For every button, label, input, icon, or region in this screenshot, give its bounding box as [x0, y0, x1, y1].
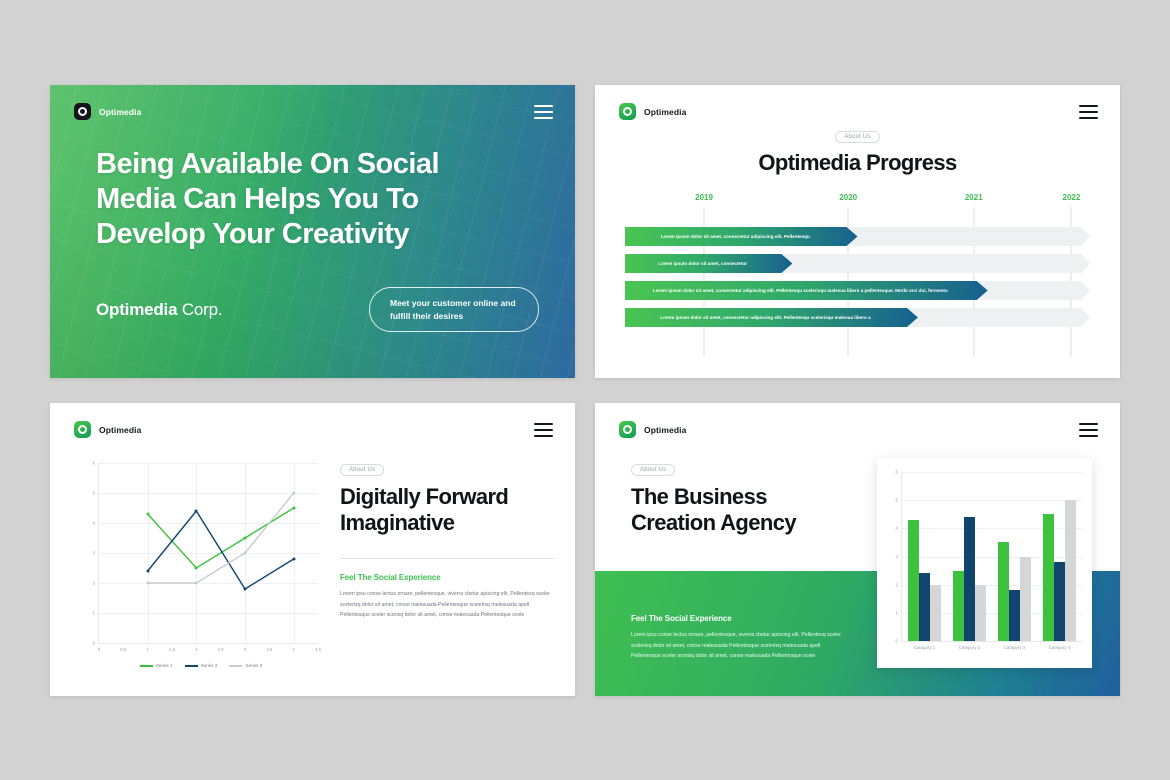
data-point: [195, 510, 198, 513]
brand-name: Optimedia: [99, 425, 141, 435]
hamburger-menu-icon[interactable]: [534, 105, 553, 119]
line-chart: 012345600.511.522.533.544.5Series 1Serie…: [76, 455, 326, 670]
bar: [908, 520, 919, 641]
timeline-fill: Lorem ipsum dolor sit amet, consectetur: [625, 254, 792, 273]
brand-name: Optimedia: [644, 107, 686, 117]
timeline-year-label: 2021: [965, 193, 983, 202]
y-axis-tick: 3: [93, 551, 95, 556]
data-point: [195, 582, 198, 585]
y-axis-tick: 3: [896, 554, 898, 559]
data-point: [195, 567, 198, 570]
legend-swatch-icon: [229, 665, 242, 667]
legend-swatch-icon: [140, 665, 153, 667]
bar-group: [992, 472, 1037, 641]
bar: [1020, 557, 1031, 642]
y-axis-tick: 4: [93, 521, 95, 526]
x-axis-tick: 3.5: [266, 647, 272, 652]
page-title: The Business Creation Agency: [631, 484, 846, 536]
plot-area: 012345600.511.522.533.544.5: [98, 463, 318, 644]
slide3-text-column: About Us Digitally Forward Imaginative F…: [340, 458, 555, 621]
data-point: [243, 537, 246, 540]
hamburger-menu-icon[interactable]: [534, 423, 553, 437]
hamburger-menu-icon[interactable]: [1079, 105, 1098, 119]
timeline-row-label: Lorem ipsum dolor sit amet, consectetur …: [625, 315, 918, 320]
corp-name: Optimedia Corp.: [96, 300, 222, 320]
x-axis-tick: 4.5: [315, 647, 321, 652]
timeline-fill: Lorem ipsum dolor sit amet, consectetur …: [625, 227, 858, 246]
bar-group: [947, 472, 992, 641]
legend-item[interactable]: Series 1: [140, 663, 173, 668]
slide-hero: Optimedia Being Available On Social Medi…: [50, 85, 575, 378]
x-axis-category-label: Category 4: [1049, 645, 1070, 650]
legend-item[interactable]: Series 3: [229, 663, 262, 668]
timeline-row-label: Lorem ipsum dolor sit amet, consectetur …: [625, 288, 988, 293]
timeline-year-label: 2020: [839, 193, 857, 202]
bar: [1065, 500, 1076, 641]
bar: [1043, 514, 1054, 641]
hero-footer: Optimedia Corp. Meet your customer onlin…: [96, 287, 539, 332]
series-lines: [99, 463, 318, 643]
bar: [930, 585, 941, 641]
brand-name: Optimedia: [99, 107, 141, 117]
timeline-fill: Lorem ipsum dolor sit amet, consectetur …: [625, 308, 918, 327]
legend-label: Series 2: [201, 663, 218, 668]
section-badge: About Us: [340, 464, 384, 476]
data-point: [243, 588, 246, 591]
hamburger-menu-icon[interactable]: [1079, 423, 1098, 437]
x-axis-tick: 1: [146, 647, 148, 652]
plot-area: 0123456Category 1Category 2Category 3Cat…: [901, 472, 1082, 642]
section-badge: About Us: [835, 131, 879, 143]
brand-logo[interactable]: Optimedia: [74, 421, 141, 438]
timeline-fill: Lorem ipsum dolor sit amet, consectetur …: [625, 281, 988, 300]
timeline-rows: Lorem ipsum dolor sit amet, consectetur …: [625, 223, 1090, 327]
x-axis-tick: 0: [98, 647, 100, 652]
slide-progress: Optimedia About Us Optimedia Progress 20…: [595, 85, 1120, 378]
data-point: [146, 513, 149, 516]
chart-legend: Series 1Series 2Series 3: [76, 663, 326, 668]
data-point: [146, 570, 149, 573]
bar: [964, 517, 975, 641]
y-axis-tick: 6: [896, 470, 898, 475]
slide-bar-chart: Optimedia About Us The Business Creation…: [595, 403, 1120, 696]
timeline-row[interactable]: Lorem ipsum dolor sit amet, consectetur …: [625, 308, 1090, 327]
bar-chart-card: 0123456Category 1Category 2Category 3Cat…: [877, 458, 1092, 668]
page-title: Being Available On Social Media Can Help…: [96, 147, 516, 251]
data-point: [146, 582, 149, 585]
section-badge: About Us: [631, 464, 675, 476]
timeline-year-axis: 2019202020212022: [625, 193, 1090, 223]
page-title: Digitally Forward Imaginative: [340, 484, 555, 536]
y-axis-tick: 5: [896, 498, 898, 503]
legend-label: Series 3: [245, 663, 262, 668]
bar: [953, 571, 964, 641]
y-axis-tick: 6: [93, 461, 95, 466]
body-text: Lorem ipsu conse lectus ornare, pellente…: [340, 589, 555, 621]
bar: [1009, 590, 1020, 641]
subheading: Feel The Social Experience: [631, 614, 846, 623]
optimedia-ring-logo-icon: [74, 421, 91, 438]
timeline-row[interactable]: Lorem ipsum dolor sit amet, consectetur …: [625, 227, 1090, 246]
x-axis-tick: 0.5: [120, 647, 126, 652]
x-axis-category-label: Category 3: [1004, 645, 1025, 650]
timeline-row[interactable]: Lorem ipsum dolor sit amet, consectetur …: [625, 281, 1090, 300]
brand-logo[interactable]: Optimedia: [619, 421, 686, 438]
bar-groups: [902, 472, 1082, 641]
y-axis-tick: 1: [93, 611, 95, 616]
subheading: Feel The Social Experience: [340, 573, 555, 582]
cta-button[interactable]: Meet your customer online and fulfill th…: [369, 287, 539, 332]
bar-group: [902, 472, 947, 641]
y-axis-tick: 2: [93, 581, 95, 586]
bar: [919, 573, 930, 641]
y-axis-tick: 0: [896, 639, 898, 644]
slide4-body-block: Feel The Social Experience Lorem ipsu co…: [631, 614, 846, 662]
slide-deck: Optimedia Being Available On Social Medi…: [0, 0, 1170, 780]
timeline-row-label: Lorem ipsum dolor sit amet, consectetur …: [625, 234, 858, 239]
series-line: [148, 508, 294, 568]
data-point: [292, 492, 295, 495]
progress-header: About Us Optimedia Progress: [595, 125, 1120, 176]
data-point: [292, 558, 295, 561]
x-axis-category-label: Category 2: [959, 645, 980, 650]
x-axis-category-label: Category 1: [914, 645, 935, 650]
timeline: 2019202020212022 Lorem ipsum dolor sit a…: [625, 193, 1090, 360]
y-axis-tick: 5: [93, 491, 95, 496]
x-axis-tick: 4: [292, 647, 294, 652]
timeline-row-label: Lorem ipsum dolor sit amet, consectetur: [625, 261, 792, 266]
optimedia-ring-logo-icon: [619, 103, 636, 120]
y-axis-tick: 4: [896, 526, 898, 531]
bar: [975, 585, 986, 641]
slide4-heading-block: About Us The Business Creation Agency: [631, 458, 846, 536]
legend-label: Series 1: [156, 663, 173, 668]
brand-logo[interactable]: Optimedia: [619, 103, 686, 120]
data-point: [243, 552, 246, 555]
timeline-year-label: 2022: [1062, 193, 1080, 202]
y-axis-tick: 1: [896, 610, 898, 615]
data-point: [292, 507, 295, 510]
x-axis-tick: 2.5: [218, 647, 224, 652]
optimedia-ring-logo-icon: [619, 421, 636, 438]
brand-logo[interactable]: Optimedia: [74, 103, 141, 120]
x-axis-tick: 1.5: [169, 647, 175, 652]
corp-name-rest: Corp.: [177, 300, 222, 319]
bar: [998, 542, 1009, 641]
legend-item[interactable]: Series 2: [185, 663, 218, 668]
divider: [340, 558, 555, 559]
corp-name-bold: Optimedia: [96, 300, 177, 319]
y-axis-tick: 0: [93, 641, 95, 646]
body-text: Lorem ipsu conse lectus ornare, pellente…: [631, 630, 846, 662]
slide-line-chart: Optimedia 012345600.511.522.533.544.5Ser…: [50, 403, 575, 696]
x-axis-tick: 3: [244, 647, 246, 652]
bar: [1054, 562, 1065, 641]
y-axis-tick: 2: [896, 582, 898, 587]
legend-swatch-icon: [185, 665, 198, 667]
series-line: [148, 511, 294, 589]
timeline-year-label: 2019: [695, 193, 713, 202]
bar-group: [1037, 472, 1082, 641]
page-title: Optimedia Progress: [595, 150, 1120, 176]
brand-name: Optimedia: [644, 425, 686, 435]
timeline-row[interactable]: Lorem ipsum dolor sit amet, consectetur: [625, 254, 1090, 273]
optimedia-ring-logo-icon: [74, 103, 91, 120]
x-axis-tick: 2: [195, 647, 197, 652]
